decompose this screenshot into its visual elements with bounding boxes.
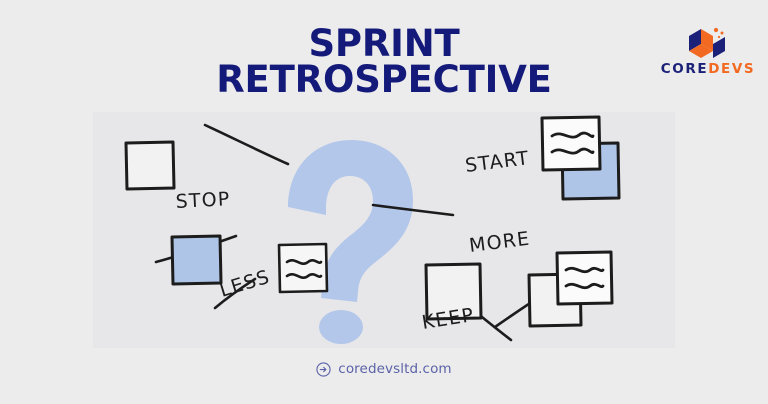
page-title: SPRINT RETROSPECTIVE bbox=[0, 26, 768, 99]
illustration-svg: STOP LESS START MORE KEEP bbox=[93, 112, 675, 348]
page-title-line1: SPRINT bbox=[0, 26, 768, 62]
question-mark-icon bbox=[288, 140, 413, 344]
footer[interactable]: coredevsltd.com bbox=[0, 361, 768, 377]
page-title-line2: RETROSPECTIVE bbox=[0, 62, 768, 98]
note-stop-empty bbox=[126, 142, 174, 189]
label-stop: STOP bbox=[175, 188, 231, 213]
label-start: START bbox=[464, 147, 531, 177]
arrow-circle-icon bbox=[316, 362, 331, 377]
footer-website-link[interactable]: coredevsltd.com bbox=[338, 361, 451, 377]
label-more: MORE bbox=[468, 228, 532, 257]
label-less: LESS bbox=[217, 266, 273, 302]
note-start-lined bbox=[542, 117, 600, 170]
note-stop-blue bbox=[172, 236, 221, 284]
retrospective-illustration: STOP LESS START MORE KEEP bbox=[93, 112, 675, 348]
note-more-lined bbox=[557, 252, 612, 304]
note-less-lined bbox=[279, 244, 327, 292]
poster-canvas: COREDEVS SPRINT RETROSPECTIVE bbox=[0, 0, 768, 404]
